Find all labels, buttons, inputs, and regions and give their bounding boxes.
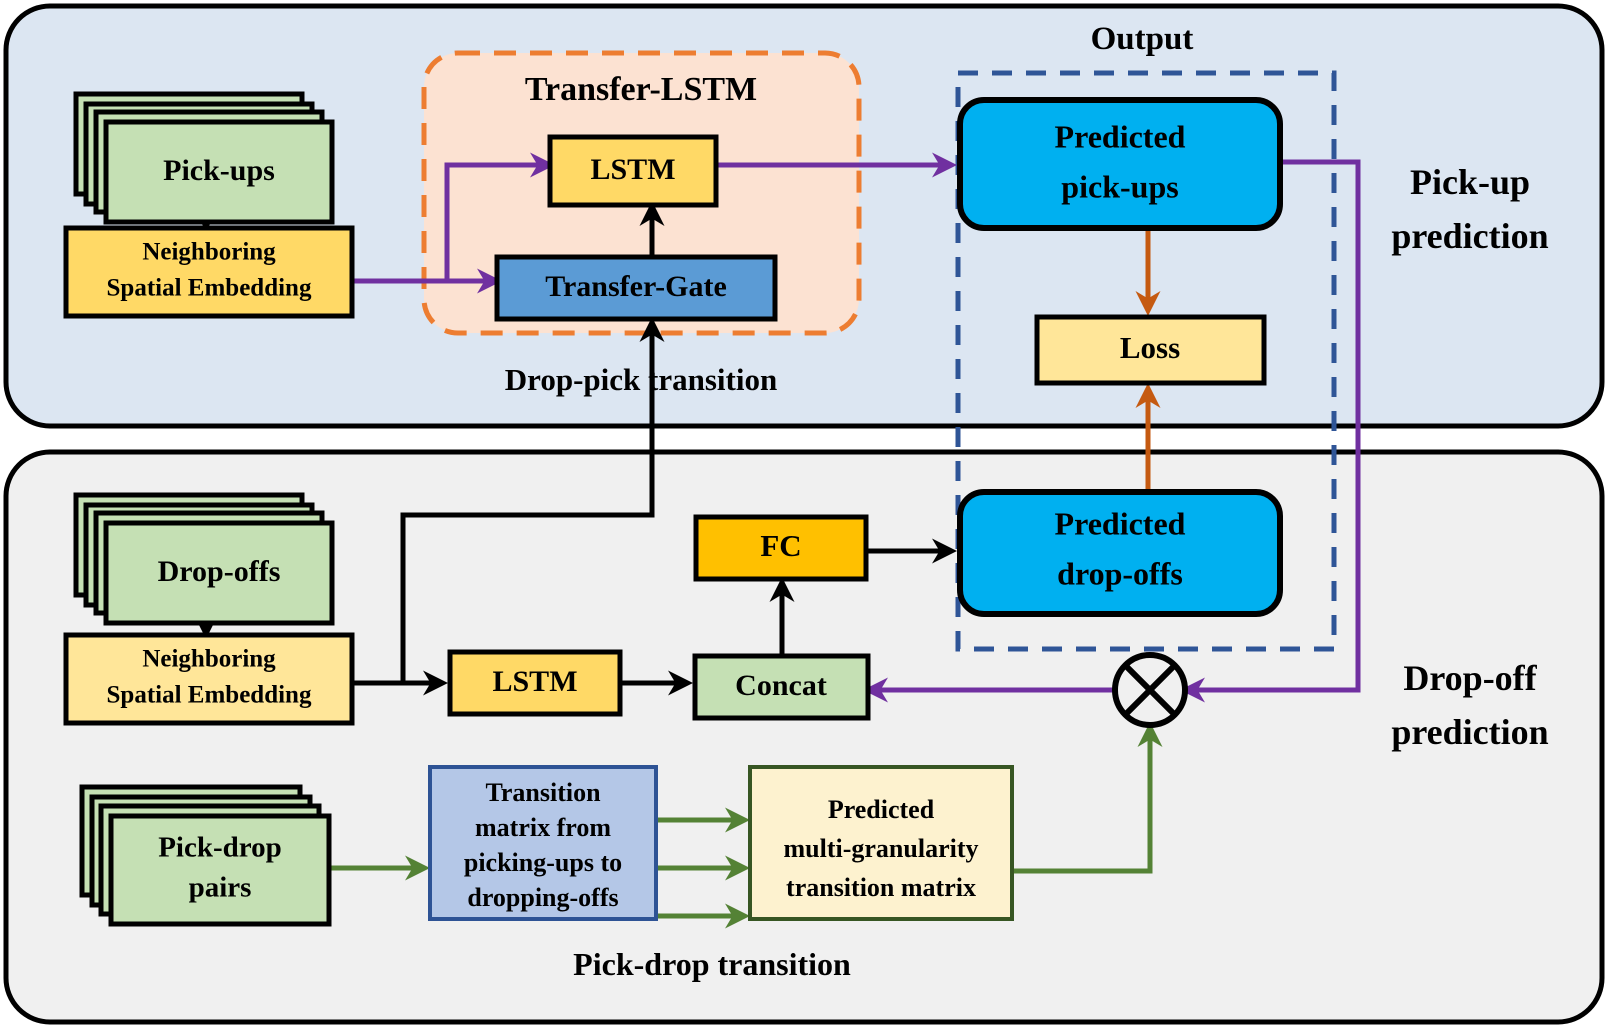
dropoff-prediction-side-label-line2: prediction	[1391, 712, 1548, 752]
drop-pick-transition-caption: Drop-pick transition	[505, 362, 777, 397]
pickup-prediction-side-label-line1: Pick-up	[1410, 162, 1530, 202]
predicted-pickups-label-line2: pick-ups	[1061, 168, 1178, 204]
pickup-prediction-side-label-line2: prediction	[1391, 216, 1548, 256]
dropoff-embedding-label-line1: Neighboring	[142, 646, 276, 673]
dropoff-lstm-label: LSTM	[492, 665, 577, 698]
predicted-transition-matrix-label-line3: transition matrix	[786, 873, 976, 902]
pickup-embedding-label-line1: Neighboring	[142, 239, 276, 266]
predicted-dropoffs-label-line1: Predicted	[1055, 505, 1186, 541]
fc-label: FC	[760, 528, 801, 563]
predicted-transition-matrix-label-line1: Predicted	[828, 795, 935, 824]
output-group-title: Output	[1091, 21, 1194, 57]
transition-matrix-label-line3: picking-ups to	[464, 848, 622, 877]
predicted-dropoffs-label-line2: drop-offs	[1057, 555, 1183, 591]
transition-matrix-label-line4: dropping-offs	[467, 883, 618, 912]
pick-drop-pairs-label-line1: Pick-drop	[158, 832, 282, 864]
pickup-embedding-label-line2: Spatial Embedding	[107, 275, 312, 302]
pick-drop-transition-caption: Pick-drop transition	[573, 946, 851, 982]
concat-label: Concat	[735, 669, 827, 702]
multiply-node	[1115, 655, 1185, 725]
transfer-gate-label: Transfer-Gate	[545, 270, 727, 303]
architecture-diagram: Pick-ups Neighboring Spatial Embedding T…	[0, 0, 1608, 1029]
pickups-input-label: Pick-ups	[163, 154, 275, 187]
predicted-transition-matrix-label-line2: multi-granularity	[784, 834, 979, 863]
transfer-lstm-group-title: Transfer-LSTM	[525, 71, 757, 108]
dropoff-embedding-label-line2: Spatial Embedding	[107, 682, 312, 709]
predicted-pickups-label-line1: Predicted	[1055, 118, 1186, 154]
pick-drop-pairs-label-line2: pairs	[189, 872, 252, 904]
dropoffs-input-label: Drop-offs	[158, 555, 281, 588]
loss-label: Loss	[1120, 330, 1180, 365]
transition-matrix-label-line2: matrix from	[475, 813, 611, 842]
dropoff-prediction-side-label-line1: Drop-off	[1403, 658, 1537, 698]
transition-matrix-label-line1: Transition	[485, 778, 601, 807]
transfer-lstm-label: LSTM	[590, 153, 675, 186]
